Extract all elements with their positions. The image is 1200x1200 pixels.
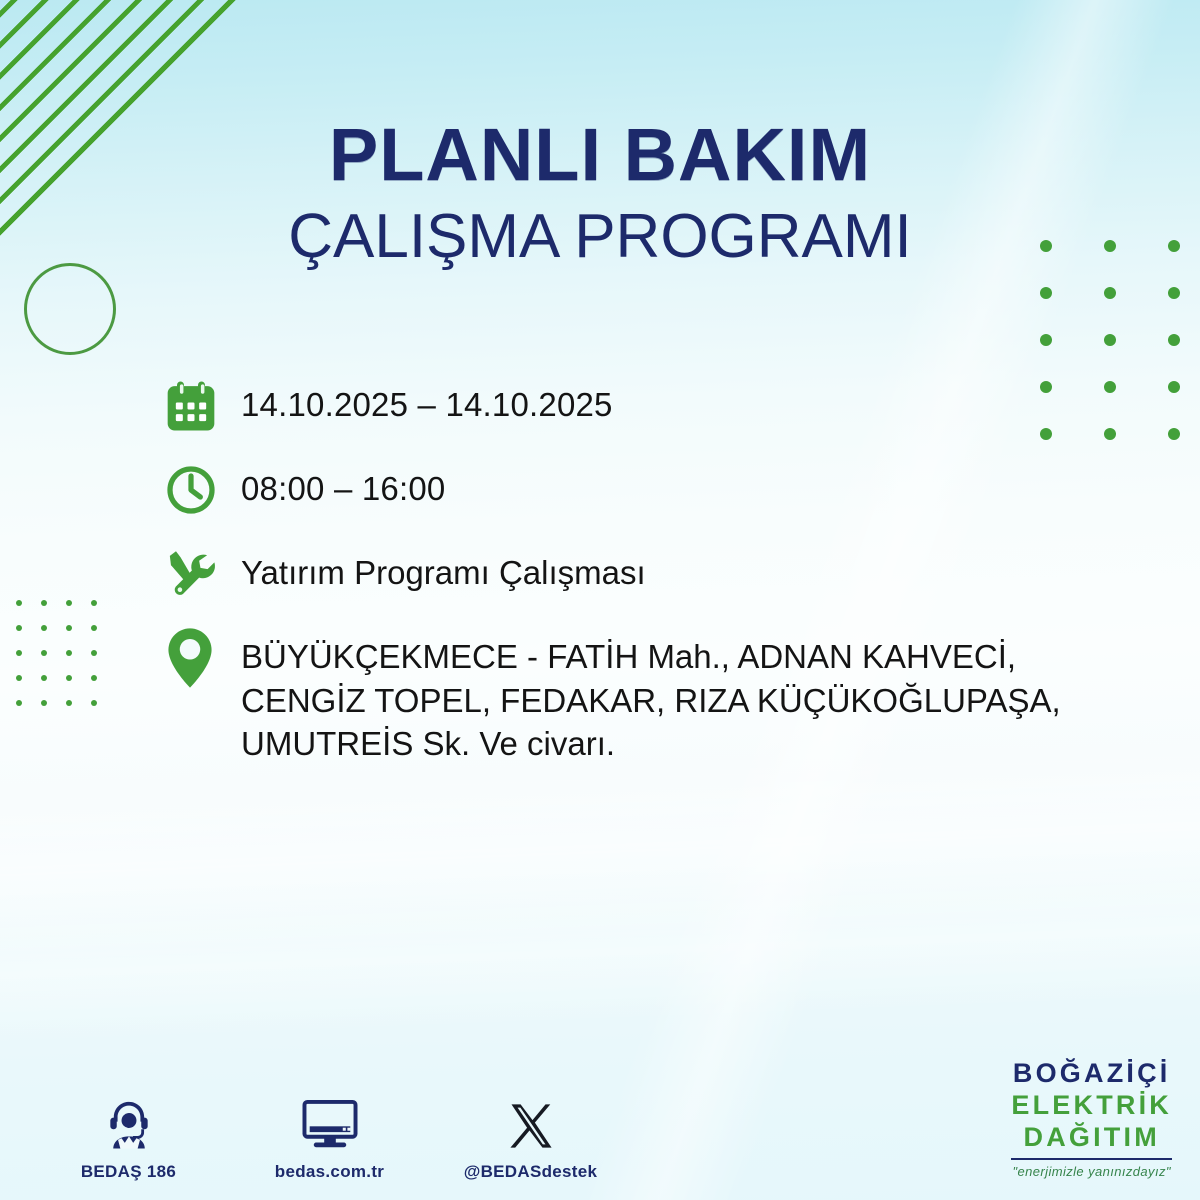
background-sheen-band-2 (0, 850, 1200, 1050)
detail-row-time: 08:00 – 16:00 (163, 459, 1143, 521)
x-twitter-icon (458, 1090, 603, 1152)
call-center-agent-icon (56, 1090, 201, 1152)
bedas-logo: BOĞAZİÇİ ELEKTRİK DAĞITIM "enerjimizle y… (1011, 1060, 1172, 1178)
detail-row-location: BÜYÜKÇEKMECE - FATİH Mah., ADNAN KAHVECİ… (163, 627, 1143, 766)
page-title-block: PLANLI BAKIM ÇALIŞMA PROGRAMI (0, 118, 1200, 268)
clock-icon (163, 459, 241, 521)
logo-divider (1011, 1158, 1172, 1160)
work-type-value: Yatırım Programı Çalışması (241, 543, 646, 595)
maintenance-details: 14.10.2025 – 14.10.2025 08:00 – 16:00 (163, 375, 1143, 788)
contact-call-center[interactable]: BEDAŞ 186 (56, 1090, 201, 1182)
contact-label: @BEDASdestek (458, 1162, 603, 1182)
map-pin-icon (163, 627, 241, 689)
footer: BEDAŞ 186 bedas.com.tr (0, 1030, 1200, 1200)
logo-line-elektrik: ELEKTRİK (1011, 1092, 1172, 1119)
date-range-value: 14.10.2025 – 14.10.2025 (241, 375, 613, 427)
monitor-icon (257, 1090, 402, 1152)
contact-channels: BEDAŞ 186 bedas.com.tr (56, 1090, 603, 1182)
contact-label: bedas.com.tr (257, 1162, 402, 1182)
contact-label: BEDAŞ 186 (56, 1162, 201, 1182)
time-range-value: 08:00 – 16:00 (241, 459, 445, 511)
page-subtitle: ÇALIŞMA PROGRAMI (0, 206, 1200, 268)
detail-row-work-type: Yatırım Programı Çalışması (163, 543, 1143, 605)
logo-line-dagitim: DAĞITIM (1011, 1124, 1172, 1151)
location-value: BÜYÜKÇEKMECE - FATİH Mah., ADNAN KAHVECİ… (241, 627, 1141, 766)
detail-row-date: 14.10.2025 – 14.10.2025 (163, 375, 1143, 437)
calendar-icon (163, 375, 241, 437)
planned-maintenance-poster: PLANLI BAKIM ÇALIŞMA PROGRAMI (0, 0, 1200, 1200)
contact-website[interactable]: bedas.com.tr (257, 1090, 402, 1182)
logo-tagline: "enerjimizle yanınızdayız" (1011, 1165, 1172, 1178)
logo-line-bogazici: BOĞAZİÇİ (1011, 1060, 1172, 1087)
circle-outline-decoration (24, 263, 116, 355)
contact-x-social[interactable]: @BEDASdestek (458, 1090, 603, 1182)
dot-grid-left-decoration (16, 600, 116, 725)
tools-icon (163, 543, 241, 605)
page-title: PLANLI BAKIM (0, 118, 1200, 192)
